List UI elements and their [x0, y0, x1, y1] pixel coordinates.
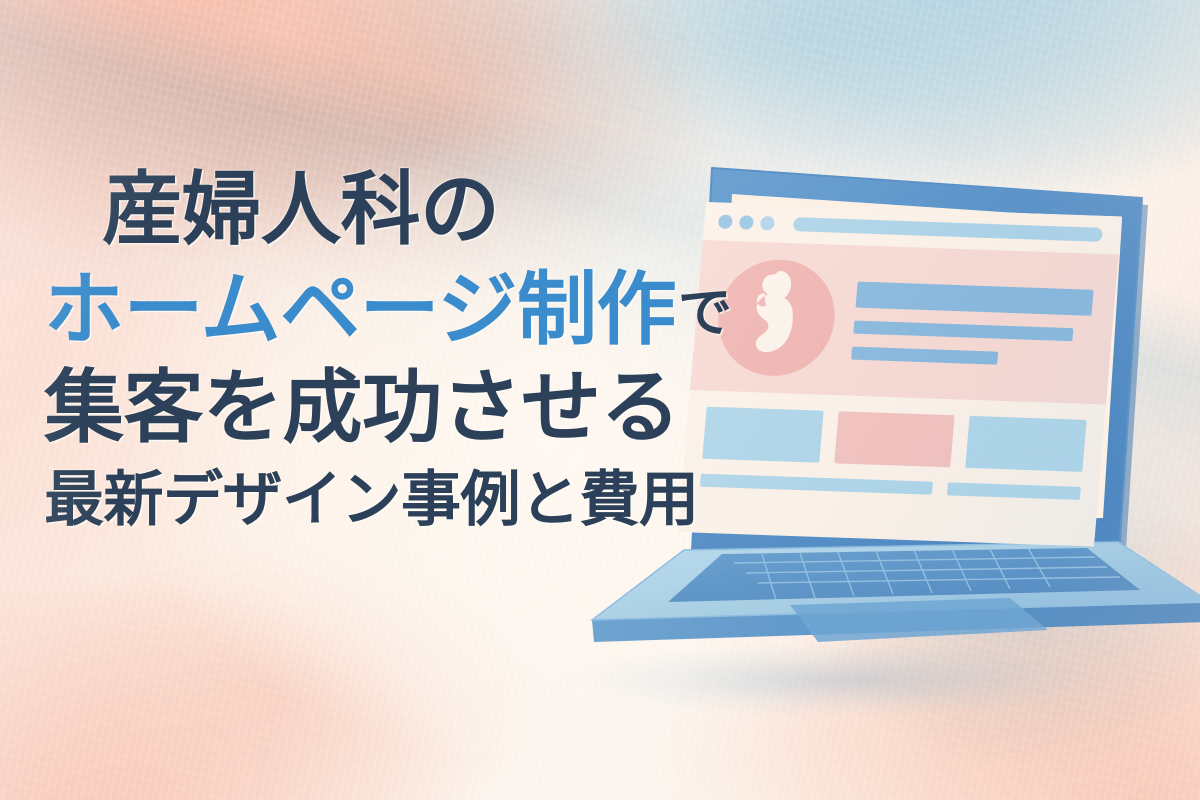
hero-banner: 産婦人科の ホームページ制作で 集客を成功させる 最新デザイン事例と費用 [0, 0, 1200, 800]
headline-line-2: ホームページ制作で [36, 270, 736, 350]
headline-line-4: 最新デザイン事例と費用 [36, 470, 736, 530]
headline-line-1: 産婦人科の [36, 170, 736, 250]
laptop-lid [692, 168, 1148, 557]
headline-line-3: 集客を成功させる [36, 368, 736, 448]
laptop-trackpad [790, 598, 1048, 642]
headline-block: 産婦人科の ホームページ制作で 集客を成功させる 最新デザイン事例と費用 [36, 170, 736, 530]
headline-line-2-suffix: で [678, 283, 732, 343]
headline-line-2-emphasis: ホームページ制作 [44, 265, 676, 354]
